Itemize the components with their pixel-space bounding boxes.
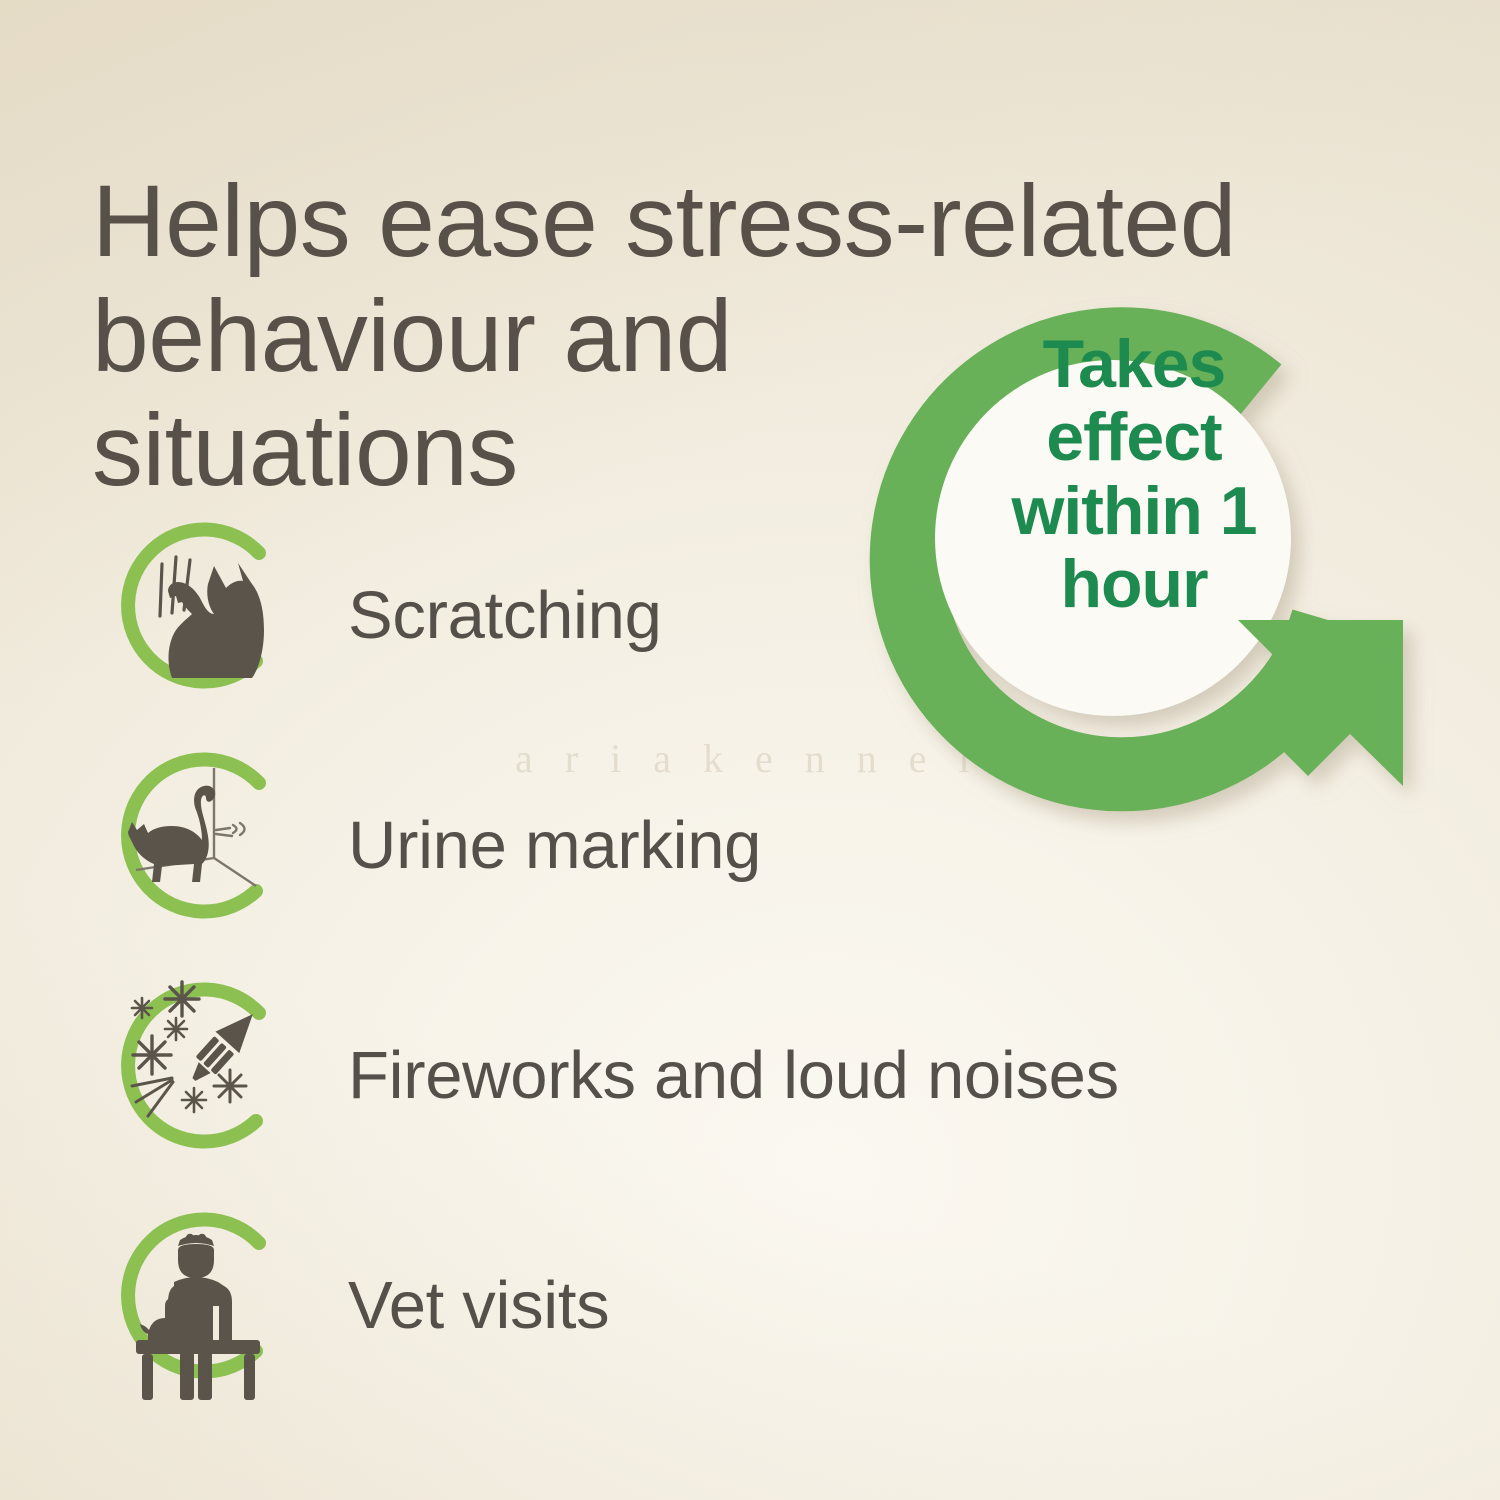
cat-scratching-icon xyxy=(96,510,306,720)
feature-label: Vet visits xyxy=(348,1267,609,1344)
badge-line-1: Takes xyxy=(934,328,1334,401)
badge-text: Takes effect within 1 hour xyxy=(934,328,1334,622)
badge-line-3: within 1 xyxy=(934,475,1334,548)
badge-line-2: effect xyxy=(934,401,1334,474)
list-item: Fireworks and loud noises xyxy=(96,960,1346,1190)
list-item: Vet visits xyxy=(96,1190,1346,1420)
feature-label: Scratching xyxy=(348,577,662,654)
vet-with-cat-icon xyxy=(96,1200,306,1410)
firework-rocket-icon xyxy=(96,970,306,1180)
feature-label: Fireworks and loud noises xyxy=(348,1037,1119,1114)
cat-urine-marking-icon xyxy=(96,740,306,950)
status-badge: Takes effect within 1 hour xyxy=(838,238,1438,858)
feature-label: Urine marking xyxy=(348,807,761,884)
badge-line-4: hour xyxy=(934,548,1334,621)
poster-canvas: Helps ease stress-related behaviour and … xyxy=(0,0,1500,1500)
